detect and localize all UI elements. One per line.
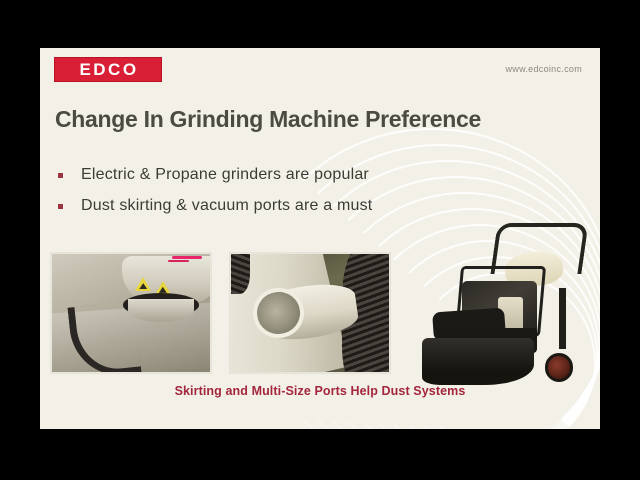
- bullet-item-1: Electric & Propane grinders are popular: [53, 166, 483, 184]
- presentation-slide: EDCO www.edcoinc.com Change In Grinding …: [40, 48, 600, 429]
- bullet-marker-icon: [58, 173, 63, 178]
- photo-walk-behind-grinder: [415, 216, 595, 396]
- pink-handle: [172, 256, 201, 259]
- warning-triangle-icon: [135, 277, 151, 291]
- bullet-item-label: Dust skirting & vacuum ports are a must: [81, 197, 372, 214]
- edco-logo: EDCO: [54, 57, 162, 82]
- machine-dust-shroud: [422, 338, 534, 385]
- video-player-frame: EDCO www.edcoinc.com Change In Grinding …: [0, 0, 640, 480]
- slide-caption: Skirting and Multi-Size Ports Help Dust …: [40, 384, 600, 398]
- corrugated-vacuum-hose-secondary: [230, 253, 250, 294]
- photo-vacuum-port: [230, 253, 390, 373]
- pink-handle-secondary: [168, 260, 190, 262]
- slide-title: Change In Grinding Machine Preference: [55, 106, 481, 133]
- photo-grinder-dust-skirting: [51, 253, 211, 373]
- machine-post: [559, 288, 566, 349]
- slide-header: EDCO www.edcoinc.com: [40, 48, 600, 92]
- edco-logo-text: EDCO: [77, 61, 138, 78]
- bullet-item-2: Dust skirting & vacuum ports are a must: [53, 197, 483, 215]
- bullet-marker-icon: [58, 204, 63, 209]
- website-url: www.edcoinc.com: [505, 64, 582, 74]
- machine-wheel: [545, 353, 574, 382]
- bullet-item-label: Electric & Propane grinders are popular: [81, 166, 369, 183]
